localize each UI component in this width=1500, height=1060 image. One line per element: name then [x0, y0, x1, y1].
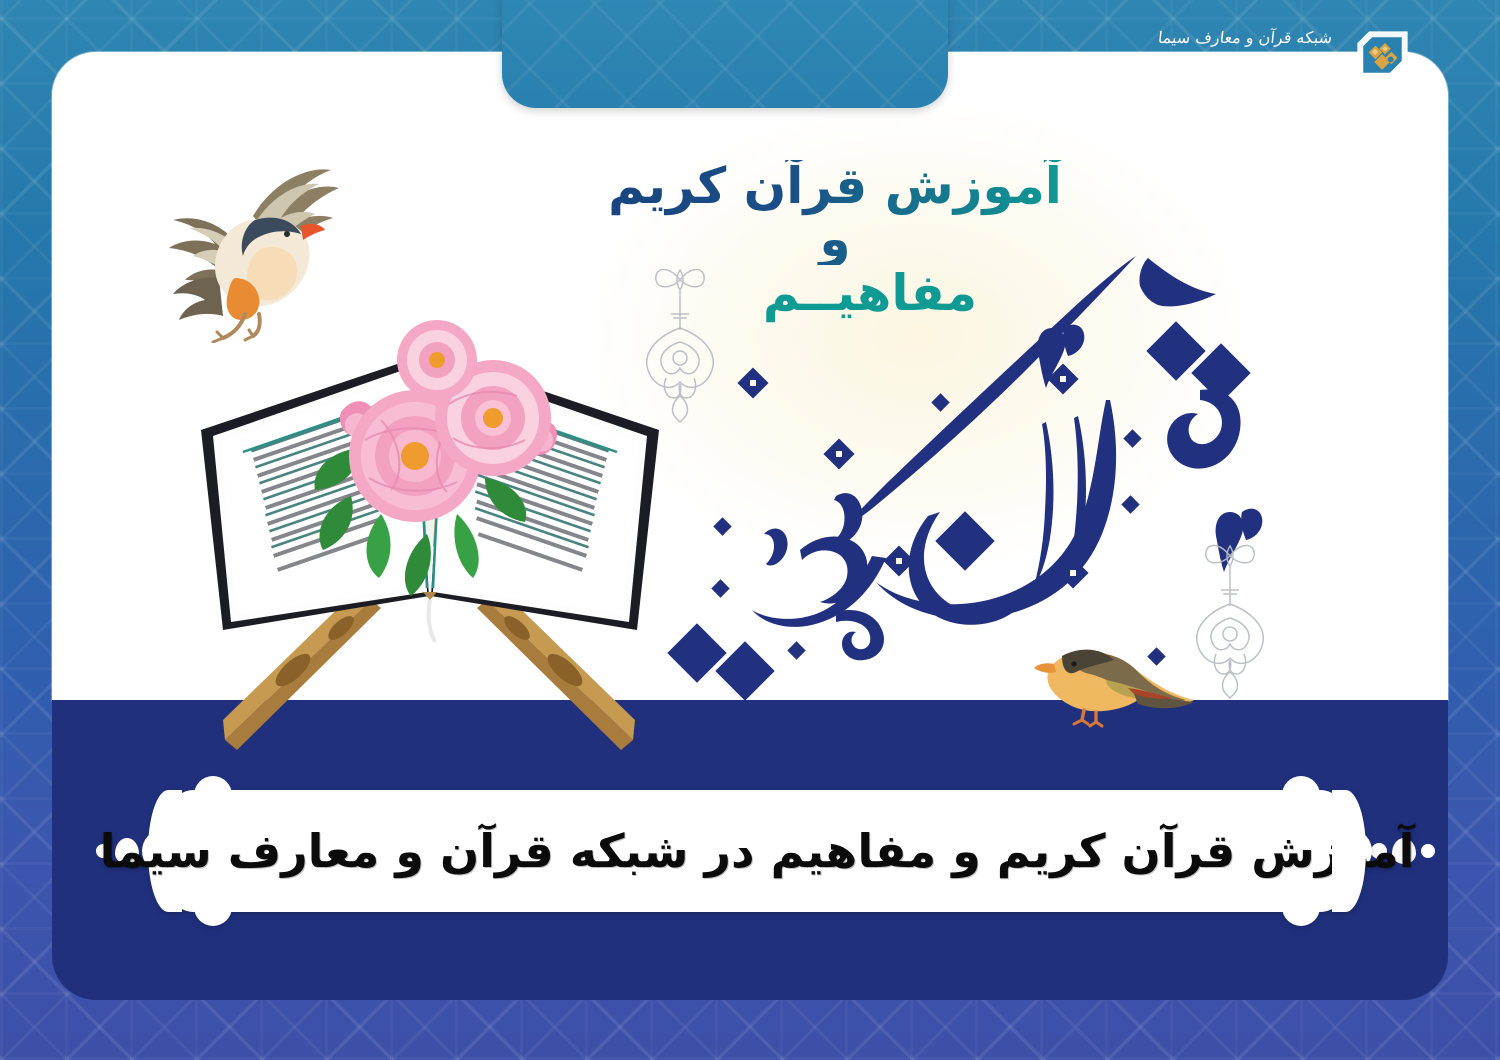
brand-header-tab [502, 0, 948, 108]
brand-name-fa: شبکه قرآن و معارف سیما [1157, 30, 1333, 46]
ribbon-headline: آموزش قرآن کریم و مفاهیم در شبکه قرآن و … [168, 790, 1346, 912]
quran-network-logo-icon [1344, 18, 1418, 92]
bottom-ribbon-banner: آموزش قرآن کریم و مفاهیم در شبکه قرآن و … [0, 778, 1500, 938]
brand-domain: QURANTV.IR [1136, 50, 1332, 80]
page-title-line1: آموزش قرآن کریم و [600, 160, 1070, 265]
page-title: آموزش قرآن کریم و مفاهیــم [600, 160, 1070, 320]
brand-lockup[interactable]: شبکه قرآن و معارف سیما QURANTV.IR [1054, 10, 1500, 100]
perched-bird-icon [1010, 634, 1200, 744]
open-quran-on-rehal-illustration [165, 300, 695, 780]
ribbon-plate: آموزش قرآن کریم و مفاهیم در شبکه قرآن و … [168, 790, 1346, 912]
poster-canvas: شبکه قرآن و معارف سیما QURANTV.IR [0, 0, 1500, 1060]
header-tab-pattern [502, 0, 948, 108]
ribbon-dot [1421, 844, 1435, 858]
